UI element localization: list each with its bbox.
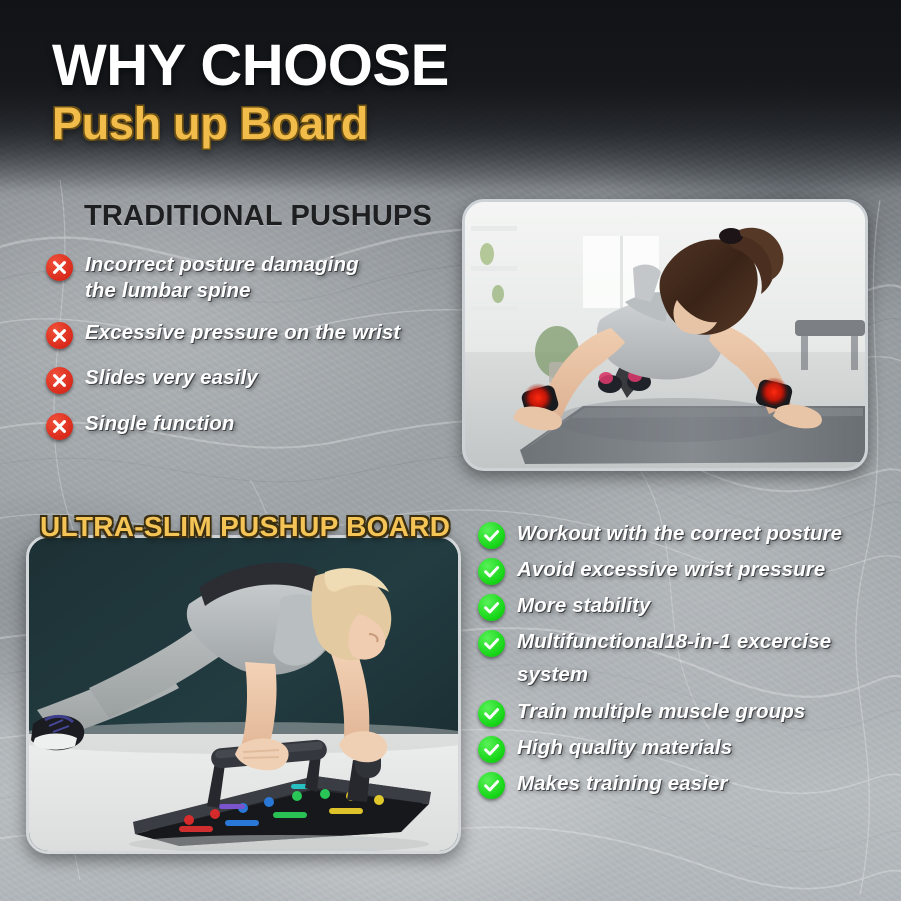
list-item-continuation: system xyxy=(517,661,890,688)
list-item-label: Multifunctional18-in-1 excercise xyxy=(517,628,831,655)
list-item-label: More stability xyxy=(517,592,651,619)
green-check-circle-icon xyxy=(478,736,505,763)
list-item: Excessive pressure on the wrist xyxy=(46,320,456,349)
list-item-label: Workout with the correct posture xyxy=(517,520,842,547)
green-check-circle-icon xyxy=(478,558,505,585)
poster-canvas: WHY CHOOSE Push up Board TRADITIONAL PUS… xyxy=(0,0,901,901)
poster-heading-block: WHY CHOOSE Push up Board xyxy=(52,36,852,148)
page-subtitle: Push up Board xyxy=(52,100,852,148)
traditional-cons-list: Incorrect posture damagingthe lumbar spi… xyxy=(46,252,456,456)
green-check-circle-icon xyxy=(478,594,505,621)
green-check-circle-icon xyxy=(478,700,505,727)
red-x-circle-icon xyxy=(46,413,73,440)
list-item: Incorrect posture damagingthe lumbar spi… xyxy=(46,252,456,304)
list-item-label: Avoid excessive wrist pressure xyxy=(517,556,825,583)
list-item: High quality materials xyxy=(478,734,890,763)
list-item-label: Incorrect posture damagingthe lumbar spi… xyxy=(85,252,359,304)
green-check-circle-icon xyxy=(478,772,505,799)
list-item: Single function xyxy=(46,411,456,440)
board-pros-list: Workout with the correct posture Avoid e… xyxy=(478,520,890,806)
list-item: Multifunctional18-in-1 excercise xyxy=(478,628,890,657)
ultra-slim-board-label: ULTRA-SLIM PUSHUP BOARD xyxy=(40,511,450,543)
list-item-label: Single function xyxy=(85,411,235,437)
list-item: Makes training easier xyxy=(478,770,890,799)
green-check-circle-icon xyxy=(478,630,505,657)
list-item-label: Excessive pressure on the wrist xyxy=(85,320,400,346)
list-item: Train multiple muscle groups xyxy=(478,698,890,727)
woman-using-pushup-board-photo xyxy=(26,535,461,854)
list-item: More stability xyxy=(478,592,890,621)
page-title: WHY CHOOSE xyxy=(52,36,852,96)
list-item-label: Makes training easier xyxy=(517,770,728,797)
red-x-circle-icon xyxy=(46,254,73,281)
green-check-circle-icon xyxy=(478,522,505,549)
list-item-label: High quality materials xyxy=(517,734,732,761)
list-item-label: system xyxy=(517,661,588,688)
list-item: Workout with the correct posture xyxy=(478,520,890,549)
list-item-label: Train multiple muscle groups xyxy=(517,698,805,725)
red-x-circle-icon xyxy=(46,322,73,349)
list-item-label: Slides very easily xyxy=(85,365,258,391)
traditional-pushups-heading: TRADITIONAL PUSHUPS xyxy=(84,200,432,233)
woman-doing-floor-pushup-photo xyxy=(462,199,868,471)
red-x-circle-icon xyxy=(46,367,73,394)
list-item: Avoid excessive wrist pressure xyxy=(478,556,890,585)
list-item: Slides very easily xyxy=(46,365,456,394)
